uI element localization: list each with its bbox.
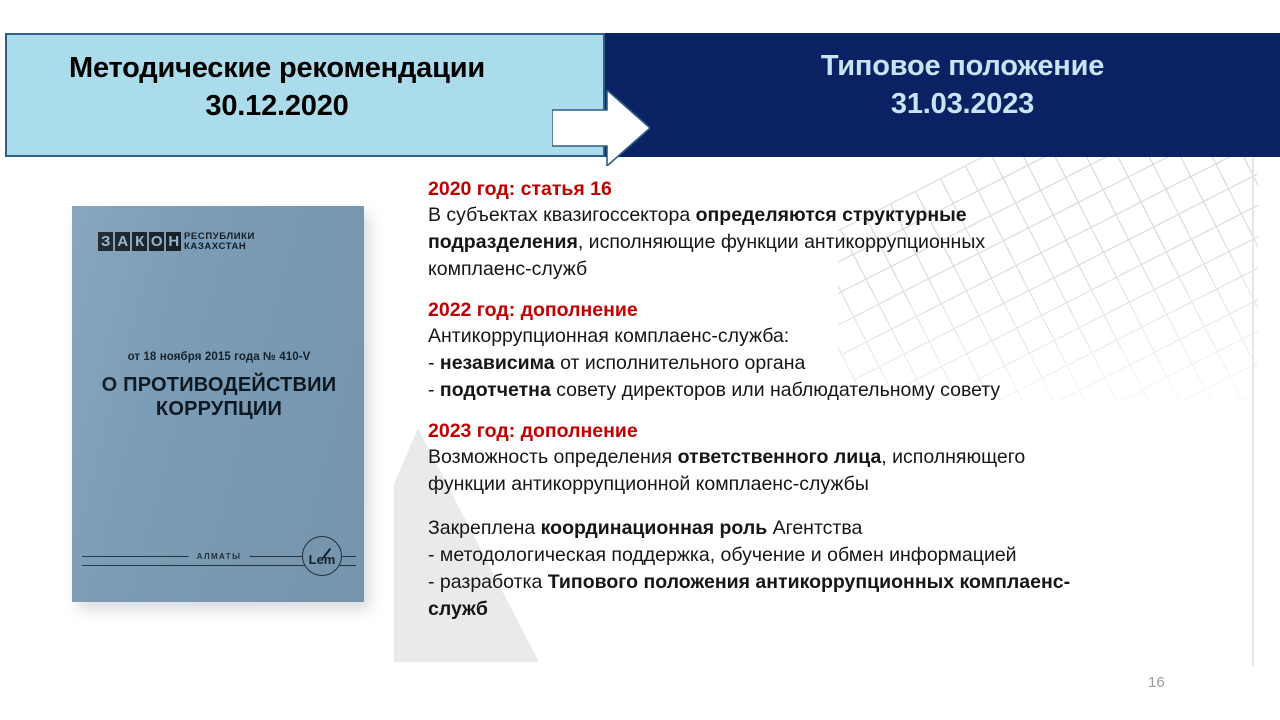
content-emphasis: координационная роль	[541, 517, 768, 539]
header-left-text: Методические рекомендации 30.12.2020	[7, 49, 603, 126]
content-line: функции антикоррупционной комплаенс-служ…	[428, 471, 1228, 498]
republic-of-kazakhstan-label: РЕСПУБЛИКИ КАЗАХСТАН	[184, 232, 255, 251]
content-line: - методологическая поддержка, обучение и…	[428, 542, 1228, 569]
book-cover: З А К О Н РЕСПУБЛИКИ КАЗАХСТАН от 18 ноя…	[72, 206, 364, 602]
header-panel-left[interactable]: Методические рекомендации 30.12.2020	[5, 33, 605, 157]
publisher-logo-icon: Lem	[302, 536, 342, 576]
content-text-block: 2020 год: статья 16В субъектах квазигосс…	[428, 176, 1228, 623]
zakon-letter-2: А	[115, 232, 130, 251]
content-run: - методологическая поддержка, обучение и…	[428, 544, 1017, 566]
header-right-text: Типовое положение 31.03.2023	[605, 47, 1280, 124]
zakon-letter-4: О	[149, 232, 164, 251]
arrow-right-icon	[552, 90, 650, 166]
content-paragraph-heading: 2020 год: статья 16	[428, 176, 1228, 202]
zakon-letter-1: З	[98, 232, 113, 251]
header-right-date: 31.03.2023	[645, 85, 1280, 123]
header-left-title: Методические рекомендации	[69, 52, 485, 84]
content-run: Антикоррупционная комплаенс-служба:	[428, 325, 789, 347]
header-right-title: Типовое положение	[821, 50, 1104, 82]
content-run: от исполнительного органа	[555, 352, 806, 374]
content-emphasis: Типового положения антикоррупционных ком…	[548, 571, 1070, 593]
republic-line-2: КАЗАХСТАН	[184, 242, 255, 252]
content-emphasis: подразделения	[428, 231, 578, 253]
content-emphasis: определяются структурные	[696, 204, 967, 226]
right-divider-line	[1252, 158, 1254, 666]
content-paragraph: 2020 год: статья 16В субъектах квазигосс…	[428, 176, 1228, 283]
book-law-title: О ПРОТИВОДЕЙСТВИИ КОРРУПЦИИ	[82, 374, 356, 421]
content-run: Возможность определения	[428, 446, 678, 468]
header-band: Методические рекомендации 30.12.2020 Тип…	[0, 33, 1280, 157]
content-run: -	[428, 352, 440, 374]
content-emphasis: подотчетна	[440, 379, 551, 401]
header-left-date: 30.12.2020	[7, 87, 547, 125]
content-paragraph: Закреплена координационная роль Агентств…	[428, 515, 1228, 623]
content-line: Возможность определения ответственного л…	[428, 444, 1228, 471]
content-line: В субъектах квазигоссектора определяются…	[428, 202, 1228, 229]
content-line: - разработка Типового положения антикорр…	[428, 569, 1228, 596]
content-paragraph: 2022 год: дополнениеАнтикоррупционная ко…	[428, 297, 1228, 404]
content-line: подразделения, исполняющие функции антик…	[428, 229, 1228, 256]
content-run: В субъектах квазигоссектора	[428, 204, 696, 226]
law-book-cover-image: З А К О Н РЕСПУБЛИКИ КАЗАХСТАН от 18 ноя…	[72, 206, 364, 602]
content-paragraph: 2023 год: дополнениеВозможность определе…	[428, 418, 1228, 498]
zakon-logo: З А К О Н РЕСПУБЛИКИ КАЗАХСТАН	[98, 232, 255, 251]
content-emphasis: служб	[428, 598, 488, 620]
zakon-logo-letters: З А К О Н	[98, 232, 181, 251]
content-run: Закреплена	[428, 517, 541, 539]
page-number: 16	[1148, 674, 1165, 691]
book-law-date: от 18 ноября 2015 года № 410-V	[82, 351, 356, 363]
content-run: совету директоров или наблюдательному со…	[551, 379, 1000, 401]
content-paragraph-heading: 2022 год: дополнение	[428, 297, 1228, 323]
book-city-label: АЛМАТЫ	[189, 552, 250, 561]
header-panel-right[interactable]: Типовое положение 31.03.2023	[605, 33, 1280, 157]
book-title-line-2: КОРРУПЦИИ	[82, 398, 356, 422]
content-run: функции антикоррупционной комплаенс-служ…	[428, 473, 869, 495]
content-line: - подотчетна совету директоров или наблю…	[428, 377, 1228, 404]
content-run: комплаенс-служб	[428, 258, 587, 280]
content-paragraph-heading: 2023 год: дополнение	[428, 418, 1228, 444]
content-line: - независима от исполнительного органа	[428, 350, 1228, 377]
content-run: , исполняющего	[881, 446, 1025, 468]
content-emphasis: ответственного лица	[678, 446, 882, 468]
content-run: - разработка	[428, 571, 548, 593]
book-footer: АЛМАТЫ Lem	[82, 542, 356, 572]
slide-canvas: Методические рекомендации 30.12.2020 Тип…	[0, 0, 1280, 720]
content-line: служб	[428, 596, 1228, 623]
content-run: , исполняющие функции антикоррупционных	[578, 231, 985, 253]
content-line: комплаенс-служб	[428, 256, 1228, 283]
content-line: Антикоррупционная комплаенс-служба:	[428, 323, 1228, 350]
content-run: -	[428, 379, 440, 401]
zakon-letter-3: К	[132, 232, 147, 251]
content-line: Закреплена координационная роль Агентств…	[428, 515, 1228, 542]
content-emphasis: независима	[440, 352, 555, 374]
zakon-letter-5: Н	[166, 232, 181, 251]
content-run: Агентства	[767, 517, 862, 539]
book-title-line-1: О ПРОТИВОДЕЙСТВИИ	[82, 374, 356, 398]
